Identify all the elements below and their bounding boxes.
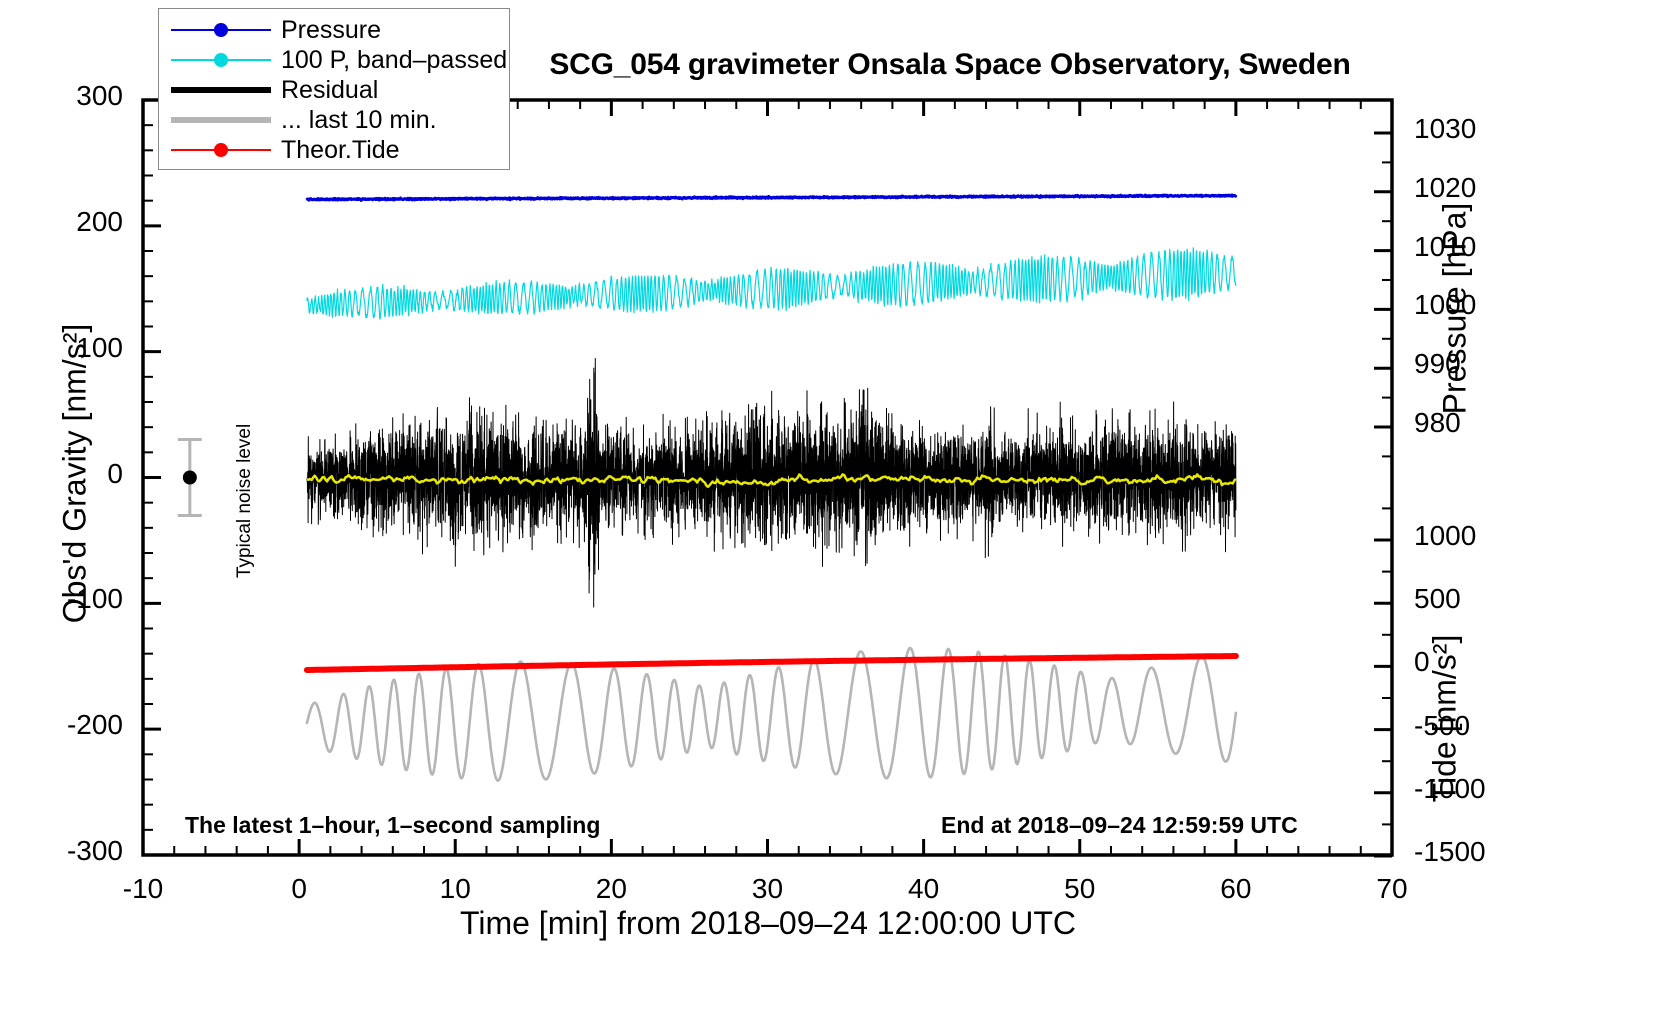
legend-item-4[interactable]: Theor.Tide [171,135,509,165]
gravimeter-plot-figure: SCG_054 gravimeter Onsala Space Observat… [0,0,1660,1020]
legend-swatch-icon [171,78,271,102]
legend-label: Theor.Tide [281,136,400,165]
legend-item-1[interactable]: 100 P, band–passed [171,45,509,75]
legend-line [171,87,271,93]
series-pressure [307,195,1236,201]
legend-swatch-icon [171,18,271,42]
legend: Pressure100 P, band–passedResidual... la… [158,8,510,170]
series-theor-tide [307,656,1236,670]
series-band-passed [307,248,1236,319]
legend-marker-dot [214,53,228,67]
legend-label: Pressure [281,16,381,45]
legend-swatch-icon [171,138,271,162]
legend-label: 100 P, band–passed [281,46,507,75]
legend-item-3[interactable]: ... last 10 min. [171,105,509,135]
legend-swatch-icon [171,108,271,132]
noise-errorbar-marker [183,471,197,485]
legend-label: ... last 10 min. [281,106,437,135]
legend-swatch-icon [171,48,271,72]
legend-marker-dot [214,23,228,37]
legend-marker-dot [214,143,228,157]
legend-item-0[interactable]: Pressure [171,15,509,45]
legend-item-2[interactable]: Residual [171,75,509,105]
legend-label: Residual [281,76,378,105]
legend-line [171,117,271,123]
